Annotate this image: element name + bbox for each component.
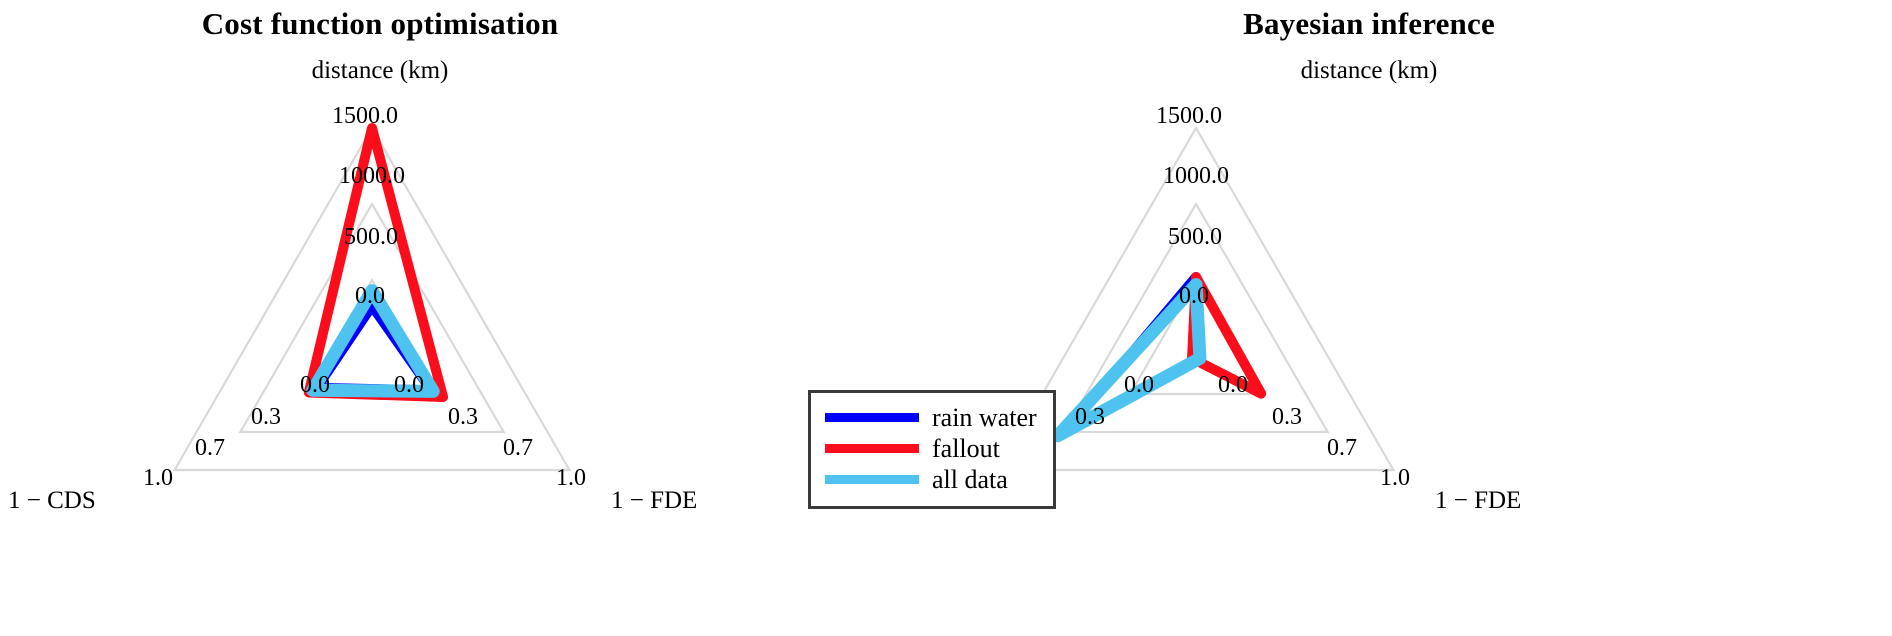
panel-bayesian-inference: Bayesian inference distance (km) 1500.0 … xyxy=(846,0,1892,636)
tick-cds-0-7: 0.7 xyxy=(195,435,225,462)
legend-label-fallout: fallout xyxy=(932,436,1000,462)
tick-fde-0: 0.0 xyxy=(394,372,424,399)
legend-swatch-fallout xyxy=(825,444,919,453)
legend-row-rain-water: rain water xyxy=(825,402,1037,433)
panel-cost-function-optimisation: Cost function optimisation distance (km)… xyxy=(0,0,760,636)
legend-label-all-data: all data xyxy=(932,467,1008,493)
tick-distance-1500: 1500.0 xyxy=(332,103,398,130)
tick-fde-1-0: 1.0 xyxy=(1380,465,1410,492)
tick-distance-500: 500.0 xyxy=(1168,224,1222,251)
tick-fde-0-3: 0.3 xyxy=(448,404,478,431)
legend-swatch-rain-water xyxy=(825,413,919,422)
tick-distance-0: 0.0 xyxy=(1179,283,1209,310)
tick-distance-1500: 1500.0 xyxy=(1156,103,1222,130)
tick-fde-0-7: 0.7 xyxy=(1327,435,1357,462)
tick-fde-1-0: 1.0 xyxy=(556,465,586,492)
legend: rain water fallout all data xyxy=(808,390,1056,509)
legend-row-all-data: all data xyxy=(825,464,1037,495)
tick-fde-0-3: 0.3 xyxy=(1272,404,1302,431)
radar-plot-right xyxy=(846,0,1892,636)
axis-name-cds: 1 − CDS xyxy=(8,487,96,515)
legend-swatch-all-data xyxy=(825,475,919,484)
tick-cds-0: 0.0 xyxy=(1124,372,1154,399)
tick-cds-0: 0.0 xyxy=(300,372,330,399)
tick-distance-500: 500.0 xyxy=(344,224,398,251)
tick-fde-0: 0.0 xyxy=(1218,372,1248,399)
tick-distance-1000: 1000.0 xyxy=(339,163,405,190)
tick-distance-1000: 1000.0 xyxy=(1163,163,1229,190)
tick-cds-1-0: 1.0 xyxy=(143,465,173,492)
axis-name-fde: 1 − FDE xyxy=(1435,487,1521,515)
tick-fde-0-7: 0.7 xyxy=(503,435,533,462)
figure-root: Cost function optimisation distance (km)… xyxy=(0,0,1892,636)
tick-distance-0: 0.0 xyxy=(355,283,385,310)
axis-name-fde: 1 − FDE xyxy=(611,487,697,515)
radar-plot-left xyxy=(0,0,760,636)
tick-cds-0-3: 0.3 xyxy=(1075,404,1105,431)
legend-label-rain-water: rain water xyxy=(932,405,1037,431)
legend-row-fallout: fallout xyxy=(825,433,1037,464)
tick-cds-0-3: 0.3 xyxy=(251,404,281,431)
